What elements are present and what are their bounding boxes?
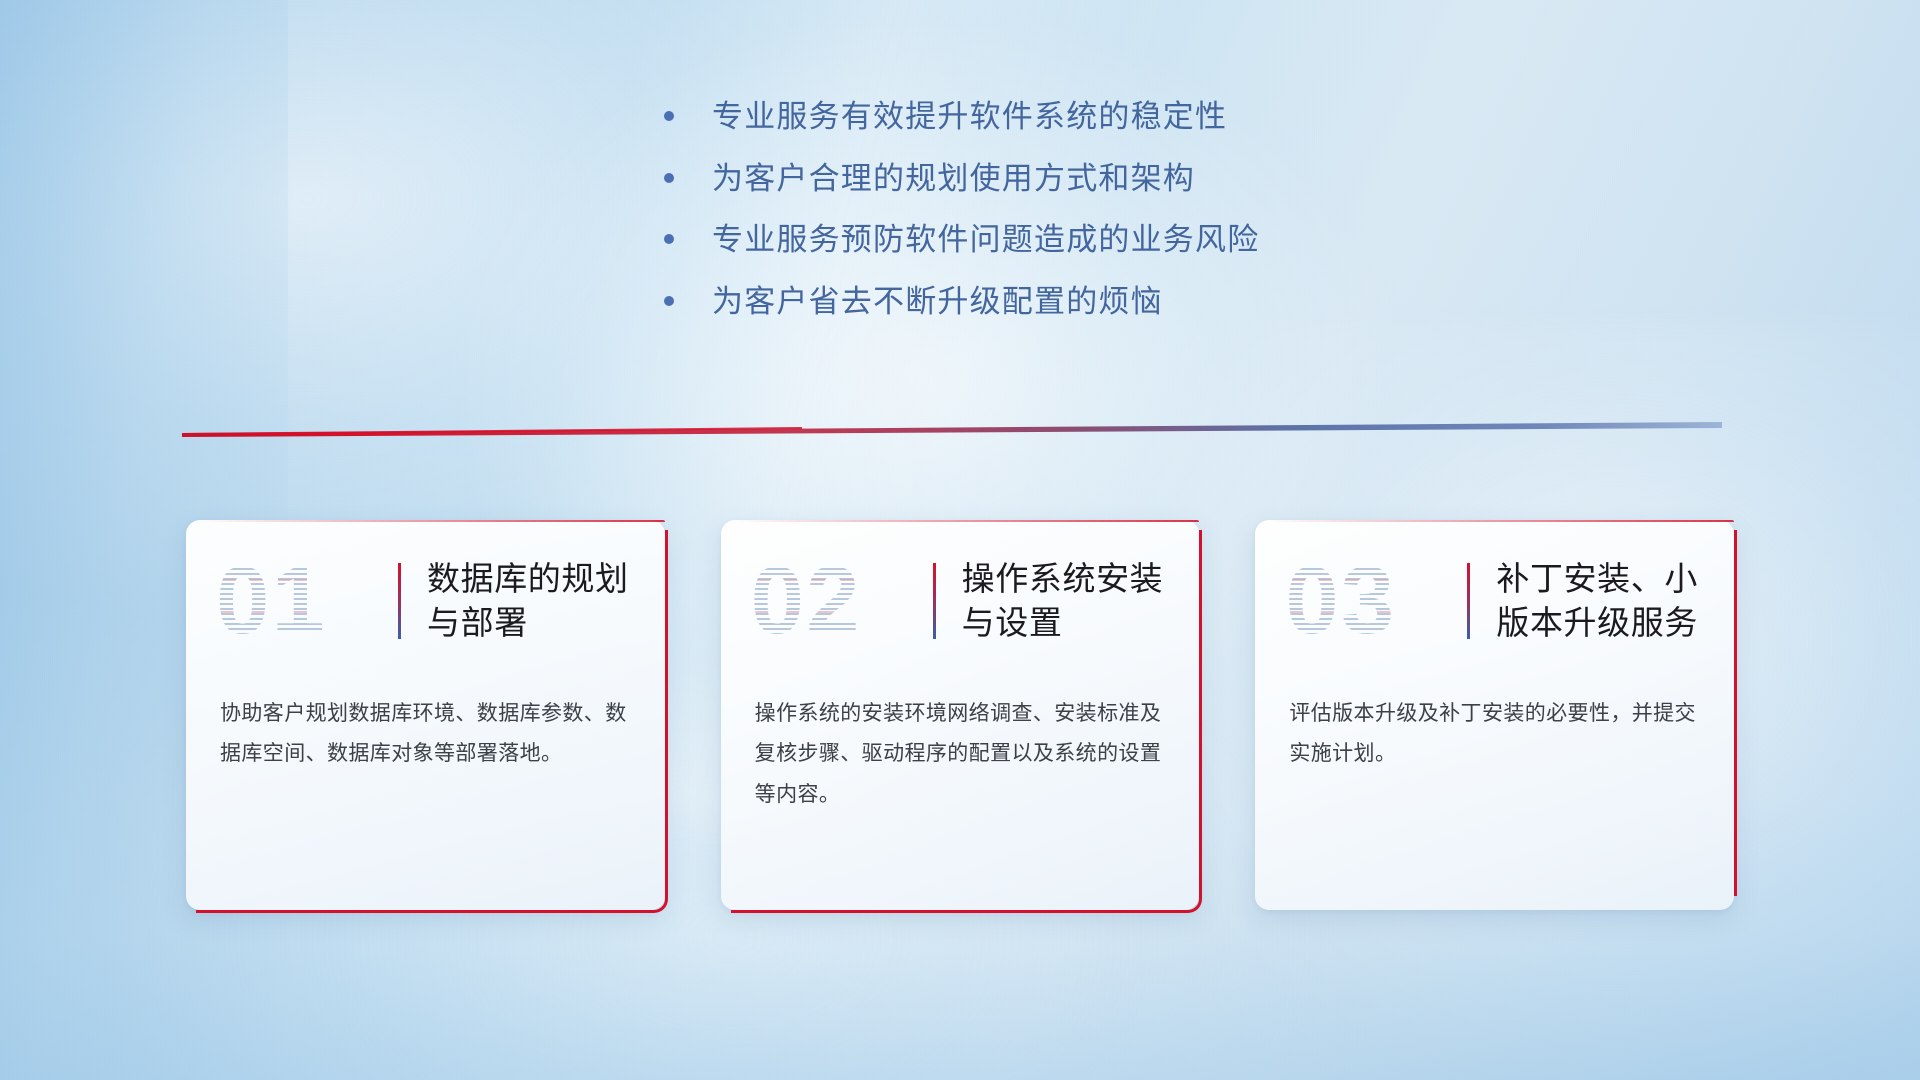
card-number-text: 03	[1285, 547, 1396, 654]
service-card-01[interactable]: 01 01 数据库的规划与部署 协助客户规划数据库环境、数据库参数、数据库空间、…	[186, 520, 665, 910]
bullet-dot-icon	[664, 234, 674, 244]
card-description: 操作系统的安装环境网络调查、安装标准及复核步骤、驱动程序的配置以及系统的设置等内…	[721, 648, 1200, 815]
bullet-text: 专业服务有效提升软件系统的稳定性	[712, 96, 1227, 138]
card-description: 评估版本升级及补丁安装的必要性，并提交实施计划。	[1255, 648, 1734, 775]
card-number-watermark: 01 01	[216, 553, 396, 649]
card-header: 02 02 操作系统安装与设置	[721, 520, 1200, 648]
card-number-watermark: 03 03	[1285, 553, 1465, 649]
list-item: 专业服务有效提升软件系统的稳定性	[664, 96, 1424, 138]
bullet-dot-icon	[664, 173, 674, 183]
card-number-text: 02	[751, 547, 862, 654]
bullet-text: 专业服务预防软件问题造成的业务风险	[712, 219, 1259, 261]
card-title: 补丁安装、小版本升级服务	[1496, 557, 1706, 644]
card-description: 协助客户规划数据库环境、数据库参数、数据库空间、数据库对象等部署落地。	[186, 648, 665, 775]
list-item: 专业服务预防软件问题造成的业务风险	[664, 219, 1424, 261]
card-title: 数据库的规划与部署	[427, 557, 637, 644]
service-card-03[interactable]: 03 03 补丁安装、小版本升级服务 评估版本升级及补丁安装的必要性，并提交实施…	[1255, 520, 1734, 910]
benefits-bullet-list: 专业服务有效提升软件系统的稳定性 为客户合理的规划使用方式和架构 专业服务预防软…	[664, 96, 1424, 342]
tapered-divider	[182, 418, 1722, 440]
bullet-text: 为客户省去不断升级配置的烦恼	[712, 281, 1163, 323]
card-number-text: 01	[216, 547, 327, 654]
card-title-divider-line	[1467, 563, 1470, 639]
service-card-02[interactable]: 02 02 操作系统安装与设置 操作系统的安装环境网络调查、安装标准及复核步骤、…	[721, 520, 1200, 910]
list-item: 为客户省去不断升级配置的烦恼	[664, 281, 1424, 323]
card-title-divider-line	[933, 563, 936, 639]
bullet-text: 为客户合理的规划使用方式和架构	[712, 158, 1195, 200]
bullet-dot-icon	[664, 296, 674, 306]
service-cards-row: 01 01 数据库的规划与部署 协助客户规划数据库环境、数据库参数、数据库空间、…	[186, 520, 1734, 910]
bullet-dot-icon	[664, 111, 674, 121]
card-header: 01 01 数据库的规划与部署	[186, 520, 665, 648]
card-header: 03 03 补丁安装、小版本升级服务	[1255, 520, 1734, 648]
slide-canvas: 专业服务有效提升软件系统的稳定性 为客户合理的规划使用方式和架构 专业服务预防软…	[0, 0, 1920, 1080]
card-title-divider-line	[398, 563, 401, 639]
list-item: 为客户合理的规划使用方式和架构	[664, 158, 1424, 200]
card-number-watermark: 02 02	[751, 553, 931, 649]
card-title: 操作系统安装与设置	[962, 557, 1172, 644]
